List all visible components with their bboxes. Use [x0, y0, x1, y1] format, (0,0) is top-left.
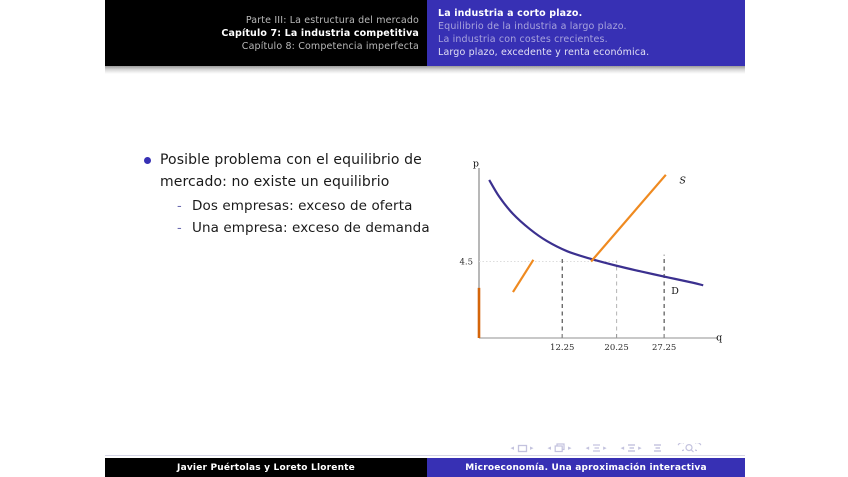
- frame-nav-group[interactable]: ◂ ▸: [545, 443, 574, 453]
- beamer-navigation-symbols: ◂ ▸ ◂ ▸ ◂ ▸ ◂ ▸: [508, 440, 748, 456]
- header-shadow-divider: [105, 66, 745, 74]
- supply-demand-chart: 12.2520.2527.254.5SDpq: [452, 148, 732, 363]
- slide-header: Parte III: La estructura del mercado Cap…: [105, 0, 745, 66]
- list-item: - Dos empresas: exceso de oferta: [177, 196, 444, 218]
- slide-prev-icon[interactable]: ◂: [511, 445, 515, 452]
- footer-authors: Javier Puértolas y Loreto Llorente: [105, 458, 427, 477]
- search-nav-icon[interactable]: [684, 443, 695, 453]
- annotation-p: p: [473, 158, 479, 169]
- bullet-dot-icon: [144, 157, 151, 164]
- header-section-navigation: La industria a corto plazo. Equilibrio d…: [427, 0, 745, 66]
- header-section-item-0[interactable]: La industria a corto plazo.: [438, 7, 745, 20]
- series-s-short-segment-curve: [513, 260, 533, 292]
- header-part-navigation: Parte III: La estructura del mercado Cap…: [105, 0, 427, 66]
- document-nav-icon[interactable]: [653, 443, 662, 453]
- list-item: Posible problema con el equilibrio de me…: [144, 150, 444, 193]
- subsection-nav-icon[interactable]: [592, 443, 601, 453]
- footer-title-text: Microeconomía. Una aproximación interact…: [465, 463, 707, 473]
- frame-next-icon[interactable]: ▸: [568, 445, 572, 452]
- series-d-curve: [489, 180, 703, 285]
- section-nav-icon[interactable]: [627, 443, 636, 453]
- sub-item-text: Una empresa: exceso de demanda: [192, 218, 430, 240]
- y-tick-label: 4.5: [459, 258, 473, 268]
- subsection-nav-group[interactable]: ◂ ▸: [583, 443, 609, 453]
- slide-nav-group[interactable]: ◂ ▸: [508, 444, 536, 453]
- subsection-next-icon[interactable]: ▸: [603, 445, 607, 452]
- dash-marker-icon: -: [177, 218, 192, 240]
- header-section-item-2[interactable]: La industria con costes crecientes.: [438, 33, 745, 46]
- footer-authors-text: Javier Puértolas y Loreto Llorente: [177, 463, 355, 473]
- header-section-item-3[interactable]: Largo plazo, excedente y renta económica…: [438, 46, 745, 59]
- header-part-item-0[interactable]: Parte III: La estructura del mercado: [246, 14, 419, 27]
- footer-title: Microeconomía. Una aproximación interact…: [427, 458, 745, 477]
- slide-body: Posible problema con el equilibrio de me…: [144, 150, 444, 239]
- section-nav-group[interactable]: ◂ ▸: [618, 443, 644, 453]
- back-nav-icon[interactable]: [673, 443, 684, 453]
- sub-item-text: Dos empresas: exceso de oferta: [192, 196, 412, 218]
- x-tick-label: 20.25: [604, 343, 628, 353]
- header-section-item-1[interactable]: Equilibrio de la industria a largo plazo…: [438, 20, 745, 33]
- forward-nav-icon[interactable]: [695, 443, 706, 453]
- slide-footer: Javier Puértolas y Loreto Llorente Micro…: [105, 458, 745, 477]
- header-part-item-2[interactable]: Capítulo 8: Competencia imperfecta: [242, 40, 419, 53]
- subsection-prev-icon[interactable]: ◂: [586, 445, 590, 452]
- series-s-curve: [591, 175, 666, 262]
- dash-marker-icon: -: [177, 196, 192, 218]
- chart-canvas: 12.2520.2527.254.5SDpq: [452, 148, 732, 363]
- slide-next-icon[interactable]: ▸: [530, 445, 534, 452]
- footer-rule: [105, 455, 745, 456]
- annotation-d: D: [671, 286, 679, 297]
- annotation-q: q: [716, 333, 722, 344]
- x-tick-label: 27.25: [652, 343, 676, 353]
- sub-list: - Dos empresas: exceso de oferta - Una e…: [177, 196, 444, 239]
- section-next-icon[interactable]: ▸: [638, 445, 642, 452]
- frame-prev-icon[interactable]: ◂: [548, 445, 552, 452]
- slide-nav-icon[interactable]: [517, 444, 528, 453]
- frame-nav-icon[interactable]: [554, 443, 566, 453]
- bullet-item-text: Posible problema con el equilibrio de me…: [160, 150, 444, 193]
- header-part-item-1[interactable]: Capítulo 7: La industria competitiva: [221, 27, 419, 40]
- x-tick-label: 12.25: [550, 343, 574, 353]
- annotation-s: S: [679, 175, 686, 186]
- list-item: - Una empresa: exceso de demanda: [177, 218, 444, 240]
- section-prev-icon[interactable]: ◂: [621, 445, 625, 452]
